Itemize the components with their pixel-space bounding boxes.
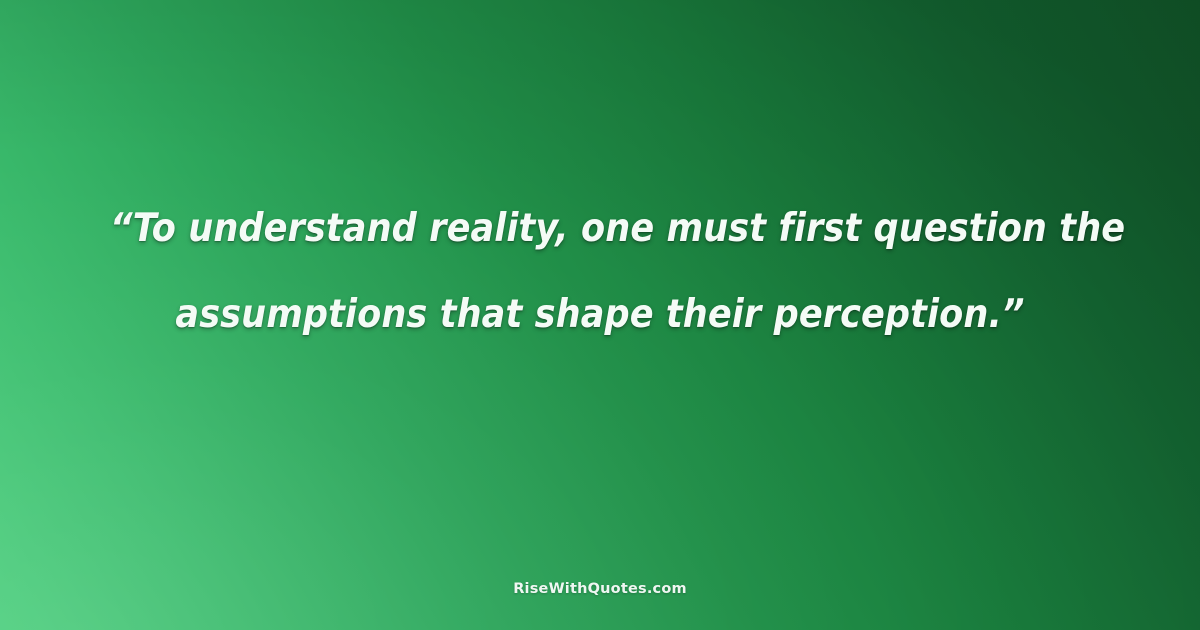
quote-text-block: “To understand reality, one must first q…	[0, 186, 1200, 358]
brand-name-label: RiseWithQuotes.com	[513, 581, 687, 597]
quote-card: “To understand reality, one must first q…	[0, 0, 1200, 630]
quote-line-2: assumptions that shape their perception.…	[110, 272, 1090, 358]
quote-line-1: “To understand reality, one must first q…	[110, 186, 1090, 272]
footer-branding: RiseWithQuotes.com	[0, 578, 1200, 597]
